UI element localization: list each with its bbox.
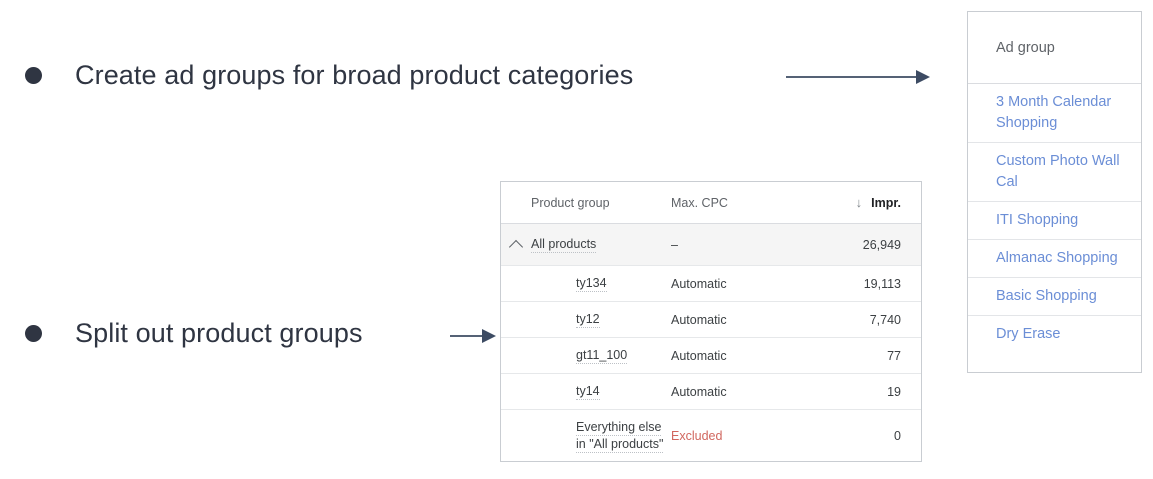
cell-product-group: ty134 <box>531 275 671 292</box>
product-group-name: All products <box>531 237 596 253</box>
bullet-item-1: Create ad groups for broad product categ… <box>25 60 633 91</box>
product-group-name: ty14 <box>576 384 600 400</box>
ad-group-list-item[interactable]: 3 Month Calendar Shopping <box>968 84 1141 143</box>
column-header-max-cpc[interactable]: Max. CPC <box>671 196 796 210</box>
ad-group-list-item[interactable]: ITI Shopping <box>968 202 1141 240</box>
cell-impressions: 19,113 <box>796 277 921 291</box>
cell-impressions: 7,740 <box>796 313 921 327</box>
collapse-chevron-up-icon[interactable] <box>501 238 531 252</box>
table-row[interactable]: ty14 Automatic 19 <box>501 374 921 410</box>
cell-max-cpc: Automatic <box>671 349 796 363</box>
table-header-row: Product group Max. CPC ↓ Impr. <box>501 182 921 224</box>
ad-group-panel: Ad group 3 Month Calendar Shopping Custo… <box>967 11 1142 373</box>
bullet-label-1: Create ad groups for broad product categ… <box>75 60 633 91</box>
cell-product-group: All products <box>531 236 671 253</box>
cell-max-cpc: Automatic <box>671 277 796 291</box>
ad-group-column-header: Ad group <box>968 12 1141 84</box>
product-group-name: gt11_100 <box>576 348 627 364</box>
table-row[interactable]: All products – 26,949 <box>501 224 921 266</box>
ad-group-list-item[interactable]: Dry Erase <box>968 316 1141 353</box>
short-right-arrow-icon <box>448 323 500 349</box>
table-row[interactable]: ty134 Automatic 19,113 <box>501 266 921 302</box>
cell-product-group: gt11_100 <box>531 347 671 364</box>
column-header-impressions[interactable]: ↓ Impr. <box>796 196 921 210</box>
cell-max-cpc-excluded: Excluded <box>671 429 796 443</box>
product-group-name: Everything else in "All products" <box>576 420 663 453</box>
sort-descending-icon: ↓ <box>856 196 863 209</box>
table-row[interactable]: ty12 Automatic 7,740 <box>501 302 921 338</box>
cell-impressions: 0 <box>796 429 921 443</box>
ad-group-list-item[interactable]: Almanac Shopping <box>968 240 1141 278</box>
ad-group-list-item[interactable]: Custom Photo Wall Cal <box>968 143 1141 202</box>
bullet-marker-icon <box>25 325 42 342</box>
column-header-product-group[interactable]: Product group <box>531 196 671 210</box>
bullet-item-2: Split out product groups <box>25 318 363 349</box>
cell-product-group: ty14 <box>531 383 671 400</box>
cell-max-cpc: – <box>671 238 796 252</box>
cell-product-group: ty12 <box>531 311 671 328</box>
product-group-name: ty12 <box>576 312 600 328</box>
column-header-impressions-label: Impr. <box>871 196 901 210</box>
table-row[interactable]: Everything else in "All products" Exclud… <box>501 410 921 462</box>
cell-max-cpc: Automatic <box>671 385 796 399</box>
cell-product-group: Everything else in "All products" <box>531 419 671 453</box>
cell-impressions: 19 <box>796 385 921 399</box>
bullet-marker-icon <box>25 67 42 84</box>
table-row[interactable]: gt11_100 Automatic 77 <box>501 338 921 374</box>
product-group-table: Product group Max. CPC ↓ Impr. All produ… <box>500 181 922 462</box>
long-right-arrow-icon <box>784 64 934 90</box>
product-group-name: ty134 <box>576 276 607 292</box>
bullet-label-2: Split out product groups <box>75 318 363 349</box>
ad-group-list-item[interactable]: Basic Shopping <box>968 278 1141 316</box>
cell-impressions: 26,949 <box>796 238 921 252</box>
cell-impressions: 77 <box>796 349 921 363</box>
cell-max-cpc: Automatic <box>671 313 796 327</box>
